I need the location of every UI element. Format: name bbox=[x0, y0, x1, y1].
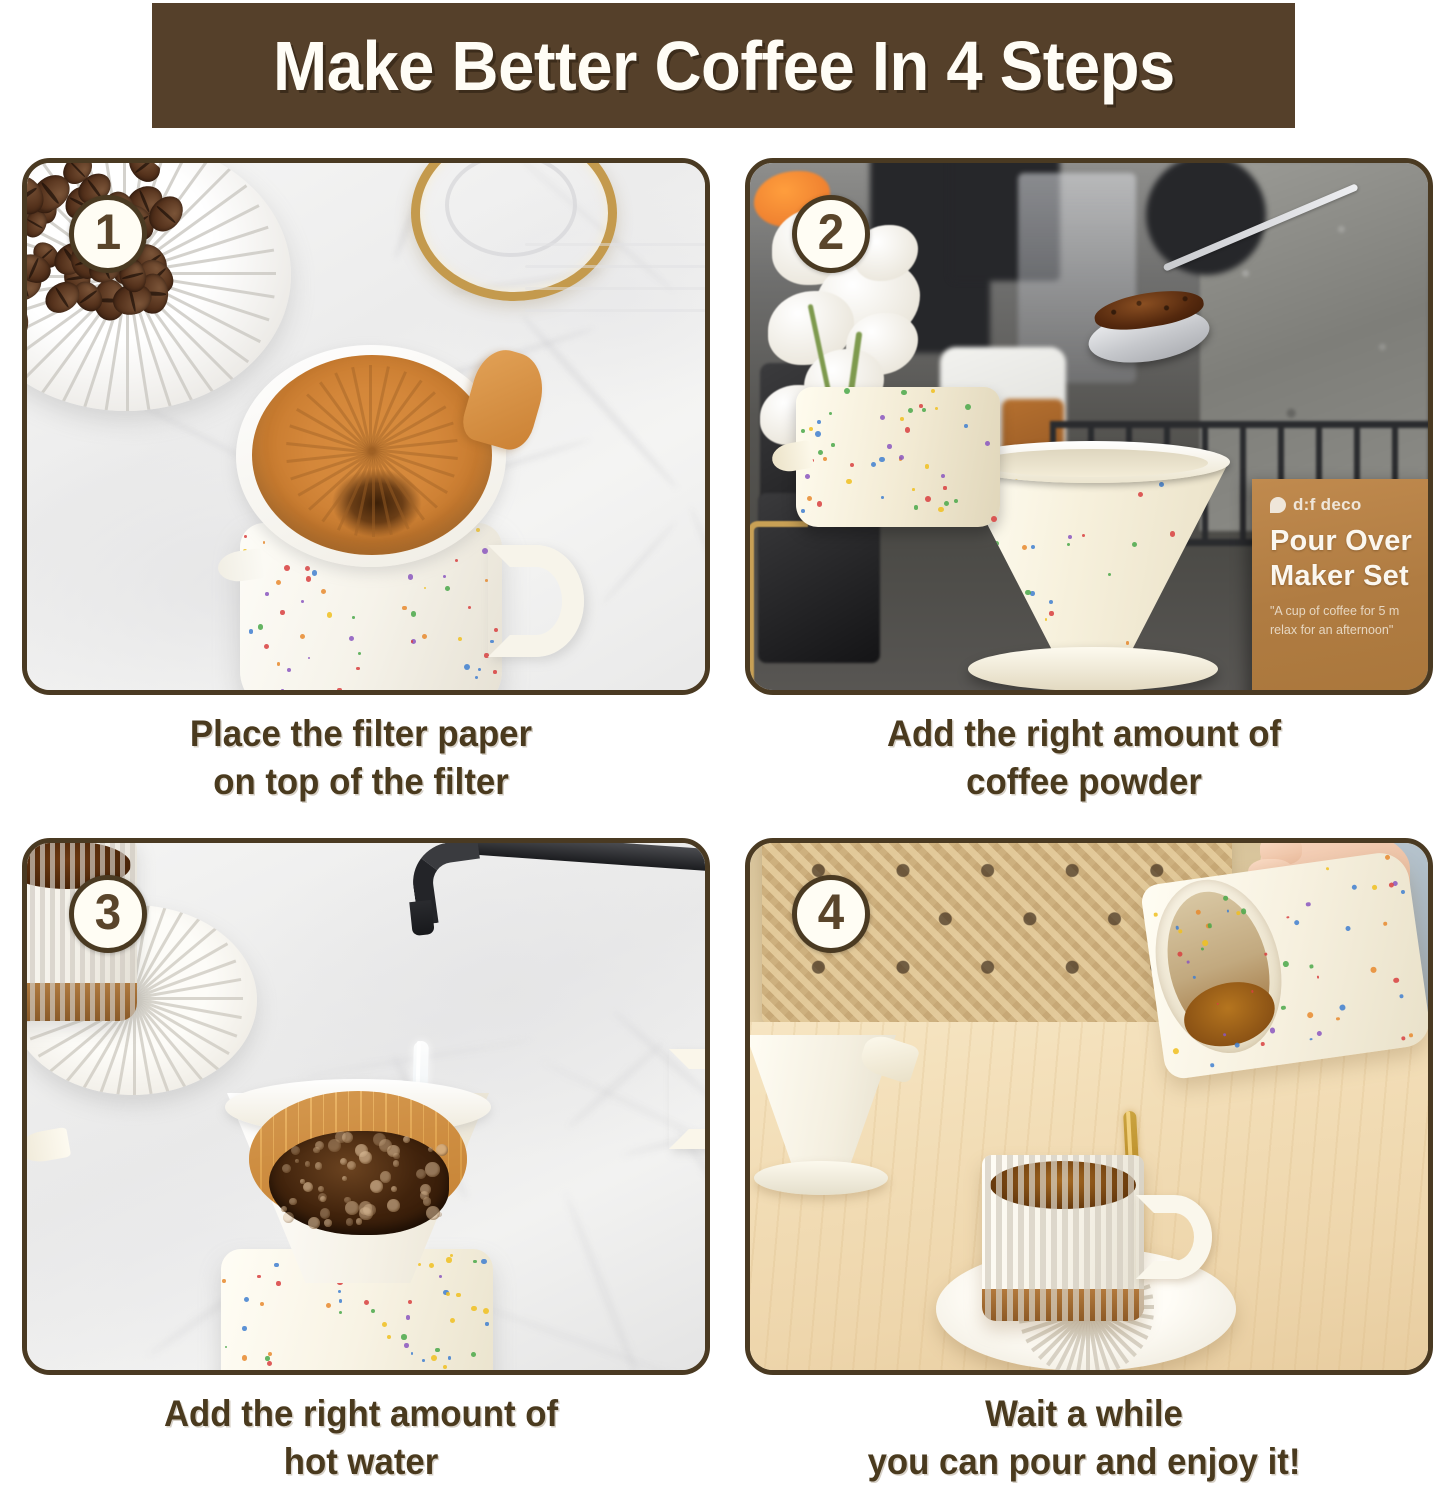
kettle-spout-tip bbox=[409, 900, 434, 936]
gold-stand bbox=[750, 521, 808, 690]
product-package-box: d:f deco Pour Over Maker Set "A cup of c… bbox=[1252, 479, 1428, 690]
caption-line-3a: Add the right amount of bbox=[22, 1390, 701, 1438]
step-card-4: 4 Wait a while you can pour and enjoy it… bbox=[723, 838, 1445, 1500]
step-badge-4: 4 bbox=[792, 875, 870, 953]
brand-mark-icon bbox=[1270, 497, 1286, 513]
filter-paper bbox=[252, 355, 492, 555]
spare-dripper-base bbox=[754, 1161, 888, 1195]
step-number-2: 2 bbox=[818, 207, 844, 257]
step-number-1: 1 bbox=[95, 207, 121, 257]
step-image-panel-1: 1 bbox=[22, 158, 710, 695]
ribbed-coffee-cup-4 bbox=[982, 1155, 1144, 1321]
coffee-server-4 bbox=[1140, 849, 1428, 1080]
step-number-4: 4 bbox=[818, 887, 844, 937]
step-image-panel-4: 4 bbox=[745, 838, 1433, 1375]
caption-line-1b: on top of the filter bbox=[22, 758, 701, 806]
step-image-panel-3: 3 bbox=[22, 838, 710, 1375]
dripper-spout bbox=[216, 548, 266, 584]
page-title: Make Better Coffee In 4 Steps bbox=[273, 31, 1175, 101]
steps-grid: 1 Place the filter paper on top of the f… bbox=[0, 158, 1445, 1482]
step-badge-2: 2 bbox=[792, 195, 870, 273]
measuring-spoon bbox=[1080, 271, 1350, 381]
background-lines bbox=[525, 243, 705, 333]
step-badge-1: 1 bbox=[69, 195, 147, 273]
step-card-1: 1 Place the filter paper on top of the f… bbox=[0, 158, 722, 820]
caption-line-3b: hot water bbox=[22, 1438, 701, 1486]
caption-line-4a: Wait a while bbox=[745, 1390, 1424, 1438]
header-banner: Make Better Coffee In 4 Steps bbox=[152, 3, 1295, 128]
dripper-handle-3 bbox=[669, 1049, 705, 1149]
box-title-line-2: Maker Set bbox=[1270, 560, 1428, 593]
coffee-bloom bbox=[269, 1131, 449, 1235]
kettle-arm bbox=[469, 843, 705, 872]
dripper-base bbox=[968, 647, 1218, 690]
caption-line-2b: coffee powder bbox=[745, 758, 1424, 806]
step-caption-2: Add the right amount of coffee powder bbox=[745, 710, 1424, 806]
caption-line-4b: you can pour and enjoy it! bbox=[745, 1438, 1424, 1486]
step-caption-3: Add the right amount of hot water bbox=[22, 1390, 701, 1486]
step-badge-3: 3 bbox=[69, 875, 147, 953]
dripper-cone-inner bbox=[976, 449, 1208, 477]
step-caption-4: Wait a while you can pour and enjoy it! bbox=[745, 1390, 1424, 1486]
step-image-panel-2: d:f deco Pour Over Maker Set "A cup of c… bbox=[745, 158, 1433, 695]
coffee-server bbox=[796, 387, 1000, 527]
cup-handle-4 bbox=[1136, 1195, 1212, 1279]
caption-line-2a: Add the right amount of bbox=[745, 710, 1424, 758]
ceramic-dripper-3 bbox=[205, 1079, 515, 1370]
gooseneck-kettle bbox=[389, 843, 705, 961]
step-card-2: d:f deco Pour Over Maker Set "A cup of c… bbox=[723, 158, 1445, 820]
step-number-3: 3 bbox=[95, 887, 121, 937]
step-card-3: 3 Add the right amount of hot water bbox=[0, 838, 722, 1500]
server-mouth bbox=[1138, 866, 1299, 1066]
box-tagline-1: "A cup of coffee for 5 m bbox=[1270, 603, 1428, 620]
caption-line-1a: Place the filter paper bbox=[22, 710, 701, 758]
box-tagline-2: relax for an afternoon" bbox=[1270, 622, 1428, 639]
step-caption-1: Place the filter paper on top of the fil… bbox=[22, 710, 701, 806]
brand-name: d:f deco bbox=[1293, 495, 1362, 515]
dripper-handle bbox=[488, 545, 584, 657]
ceramic-dripper-1 bbox=[222, 333, 522, 690]
brand-row: d:f deco bbox=[1270, 495, 1428, 515]
box-title-line-1: Pour Over bbox=[1270, 525, 1428, 558]
